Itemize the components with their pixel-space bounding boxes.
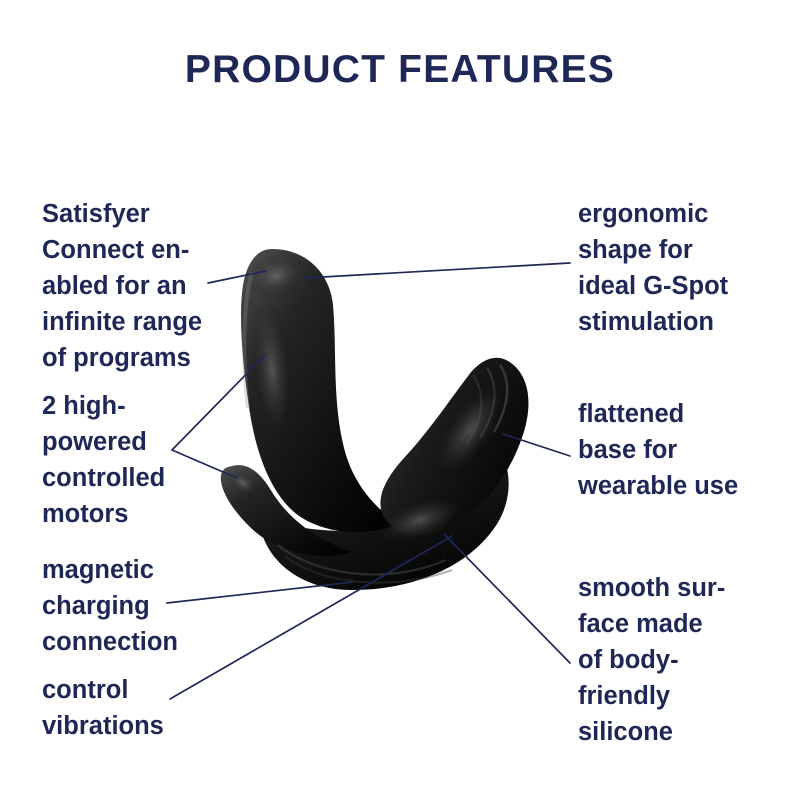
feature-label-control-vibrations: control vibrations bbox=[42, 672, 242, 744]
feature-label-two-motors: 2 high- powered controlled motors bbox=[42, 388, 217, 532]
line-smooth-silicone bbox=[444, 534, 570, 663]
feature-label-satisfyer-connect: Satisfyer Connect en- abled for an infin… bbox=[42, 196, 232, 376]
line-ergonomic-shape bbox=[305, 263, 570, 278]
feature-label-flattened-base: flattened base for wearable use bbox=[578, 396, 778, 504]
product-features-infographic: PRODUCT FEATURES bbox=[0, 0, 800, 800]
feature-label-ergonomic-shape: ergonomic shape for ideal G-Spot stimula… bbox=[578, 196, 778, 340]
feature-label-magnetic-charging: magnetic charging connection bbox=[42, 552, 242, 660]
feature-label-smooth-silicone: smooth sur- face made of body- friendly … bbox=[578, 570, 778, 750]
product-body bbox=[221, 246, 529, 590]
